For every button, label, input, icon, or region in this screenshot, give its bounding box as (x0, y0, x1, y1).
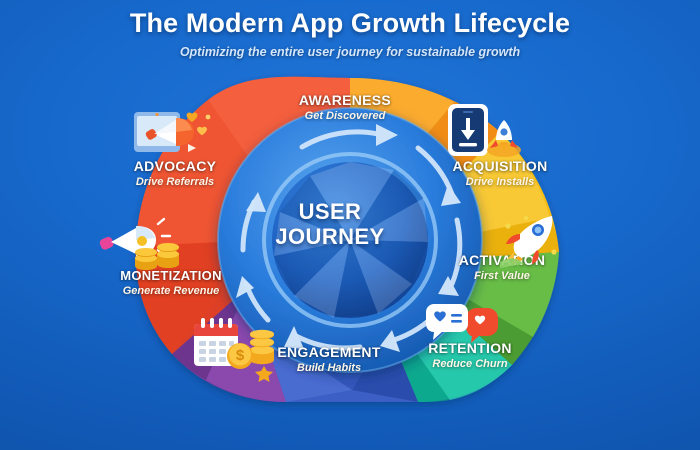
infographic-canvas: The Modern App Growth Lifecycle Optimizi… (0, 0, 700, 450)
page-subtitle: Optimizing the entire user journey for s… (0, 45, 700, 59)
chat-hearts-icon (424, 304, 498, 354)
header: The Modern App Growth Lifecycle Optimizi… (0, 8, 700, 59)
megaphone-hearts-icon (132, 104, 216, 162)
svg-text:$: $ (236, 347, 245, 364)
calendar-coins-icon: $ (190, 316, 282, 376)
page-title: The Modern App Growth Lifecycle (0, 8, 700, 39)
megaphone-coins-icon (98, 216, 184, 270)
rocket-icon (500, 212, 562, 268)
download-phone-icon (444, 102, 524, 160)
